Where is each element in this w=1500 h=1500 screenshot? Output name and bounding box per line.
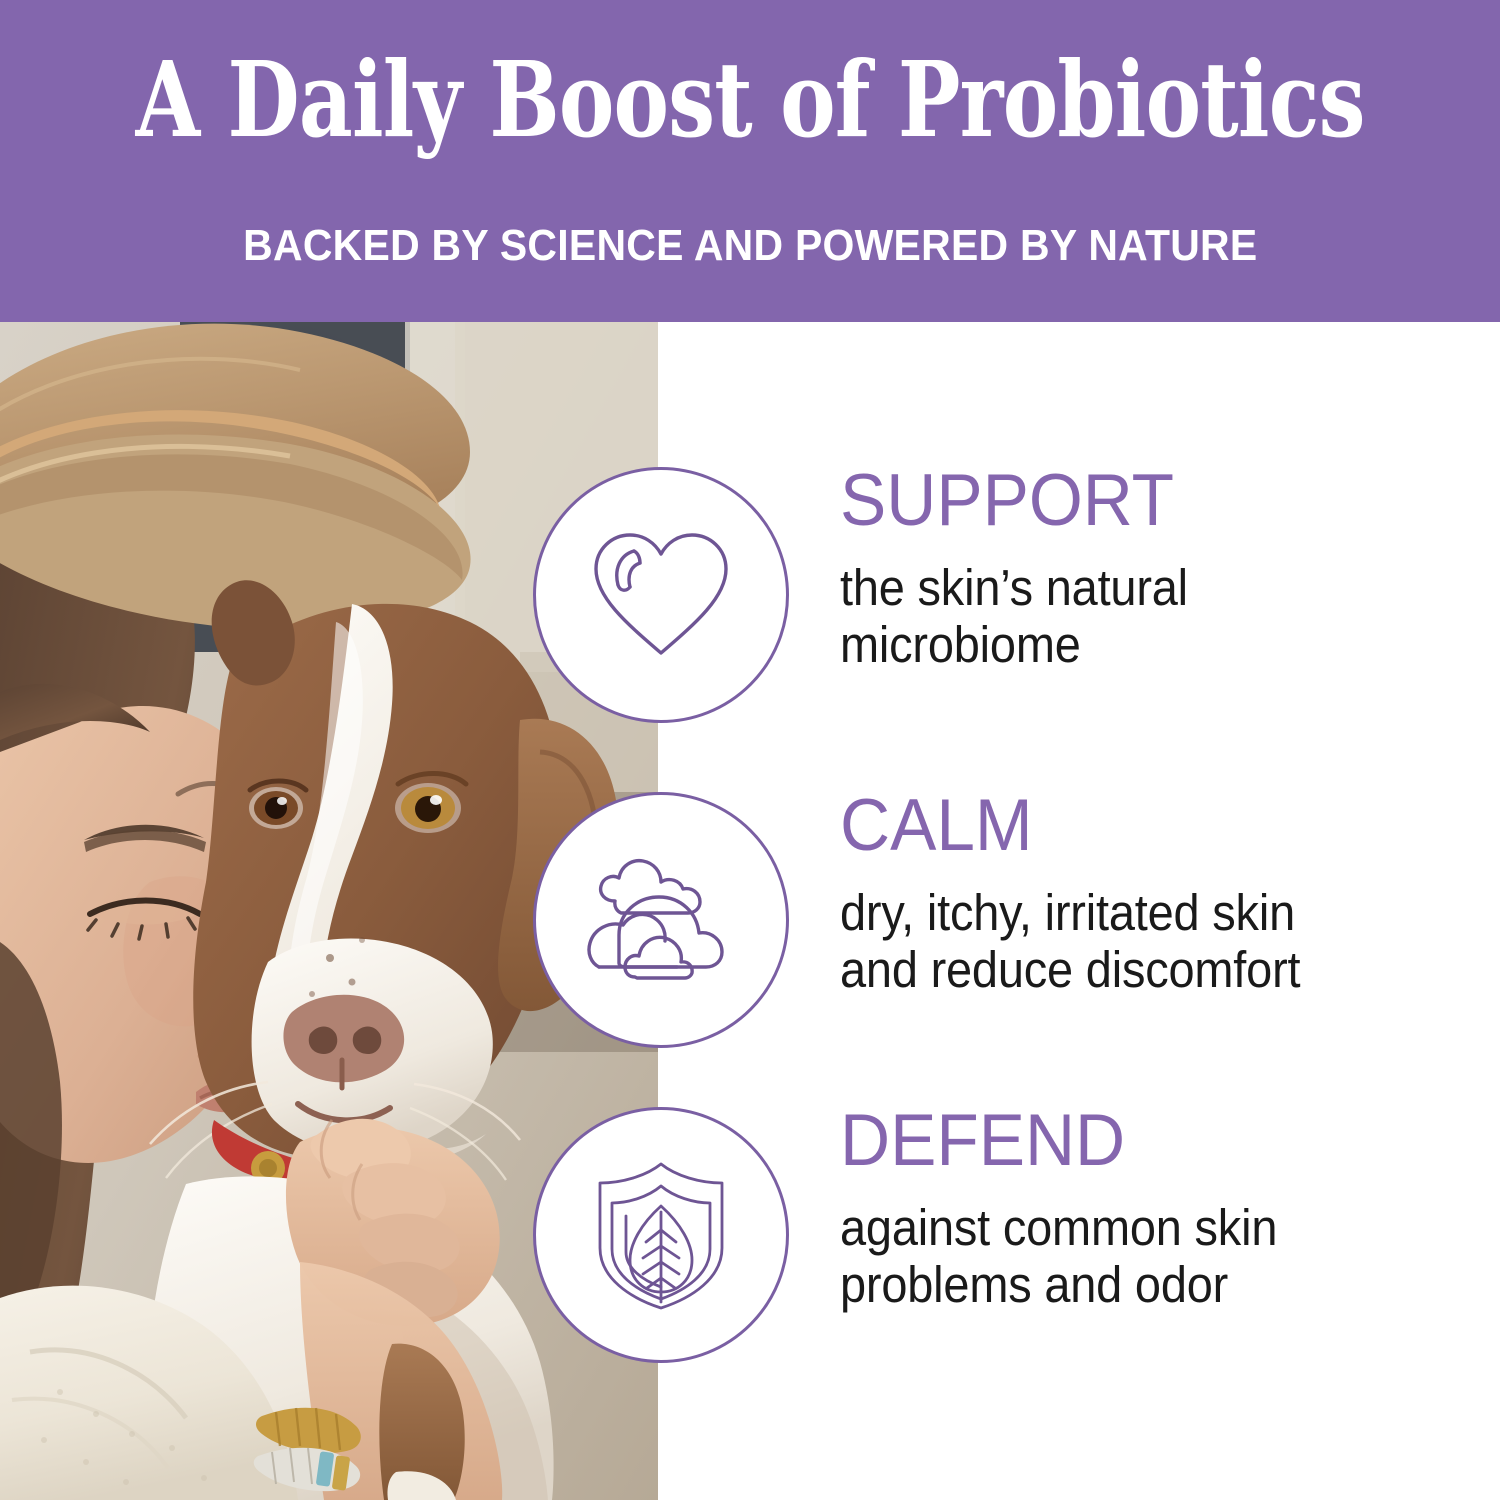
benefit-body-defend: against common skin problems and odor [840,1199,1420,1314]
shield-leaf-icon-circle [533,1107,789,1363]
benefit-body-support: the skin’s natural microbiome [840,559,1420,674]
benefit-body-line: dry, itchy, irritated skin [840,884,1420,942]
heart-icon-circle [533,467,789,723]
page-title: A Daily Boost of Probiotics [136,48,1365,152]
benefit-row-support: SUPPORT the skin’s natural microbiome [533,467,1473,723]
benefit-body-line: and reduce discomfort [840,941,1420,999]
benefit-heading-calm: CALM [840,790,1439,862]
benefit-text-support: SUPPORT the skin’s natural microbiome [840,465,1470,674]
benefit-body-line: microbiome [840,616,1420,674]
clouds-icon [585,855,737,985]
benefit-body-line: against common skin [840,1199,1420,1257]
header-subtitle: BACKED BY SCIENCE AND POWERED BY NATURE [243,224,1257,268]
benefit-row-calm: CALM dry, itchy, irritated skin and redu… [533,792,1473,1048]
benefit-body-calm: dry, itchy, irritated skin and reduce di… [840,884,1420,999]
benefit-heading-defend: DEFEND [840,1105,1439,1177]
benefit-heading-support: SUPPORT [840,465,1439,537]
shield-leaf-icon [586,1156,736,1314]
heart-icon [586,525,736,665]
benefit-body-line: the skin’s natural [840,559,1420,617]
infographic-page: A Daily Boost of Probiotics BACKED BY SC… [0,0,1500,1500]
benefit-body-line: problems and odor [840,1256,1420,1314]
header-banner: A Daily Boost of Probiotics BACKED BY SC… [0,0,1500,322]
benefit-text-calm: CALM dry, itchy, irritated skin and redu… [840,790,1470,999]
benefit-text-defend: DEFEND against common skin problems and … [840,1105,1470,1314]
benefit-row-defend: DEFEND against common skin problems and … [533,1107,1473,1363]
clouds-icon-circle [533,792,789,1048]
